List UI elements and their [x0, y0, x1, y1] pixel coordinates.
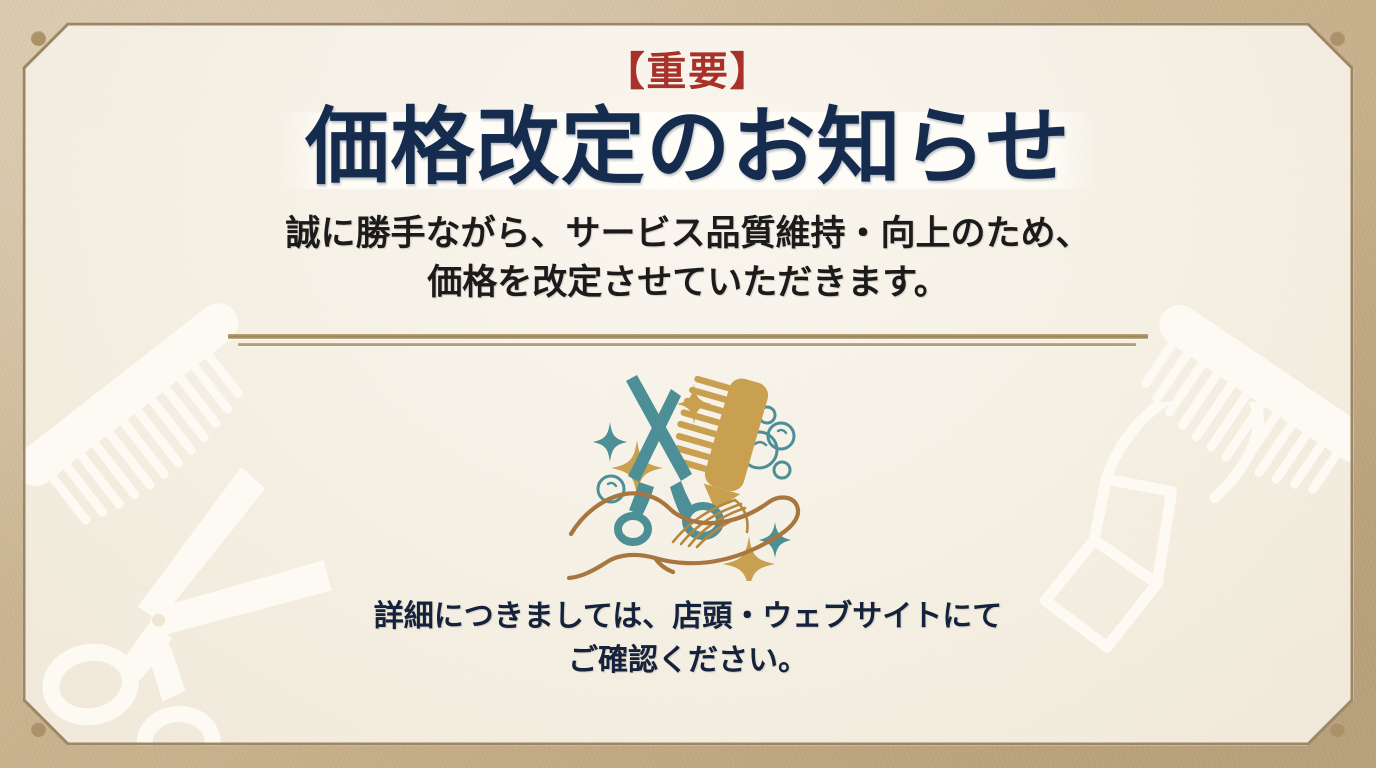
divider-rule-lower: [238, 343, 1136, 346]
importance-label: 【重要】: [605, 52, 771, 92]
section-divider: [228, 334, 1148, 348]
poster-content: 【重要】 価格改定のお知らせ 誠に勝手ながら、サービス品質維持・向上のため、 価…: [0, 0, 1376, 768]
page-title: 価格改定のお知らせ: [305, 104, 1071, 195]
salon-illustration: [563, 366, 813, 581]
footnote-line-2: ご確認ください。: [374, 639, 1003, 683]
lead-line-1: 誠に勝手ながら、サービス品質維持・向上のため、: [285, 209, 1090, 259]
lead-line-2: 価格を改定させていただきます。: [285, 258, 1090, 308]
footnote-paragraph: 詳細につきましては、店頭・ウェブサイトにて ご確認ください。: [374, 595, 1003, 682]
footnote-line-1: 詳細につきましては、店頭・ウェブサイトにて: [374, 595, 1003, 639]
title-block: 価格改定のお知らせ: [305, 104, 1071, 195]
lead-paragraph: 誠に勝手ながら、サービス品質維持・向上のため、 価格を改定させていただきます。: [285, 209, 1090, 308]
price-revision-notice-poster: 【重要】 価格改定のお知らせ 誠に勝手ながら、サービス品質維持・向上のため、 価…: [0, 0, 1376, 768]
divider-rule-upper: [228, 334, 1148, 339]
